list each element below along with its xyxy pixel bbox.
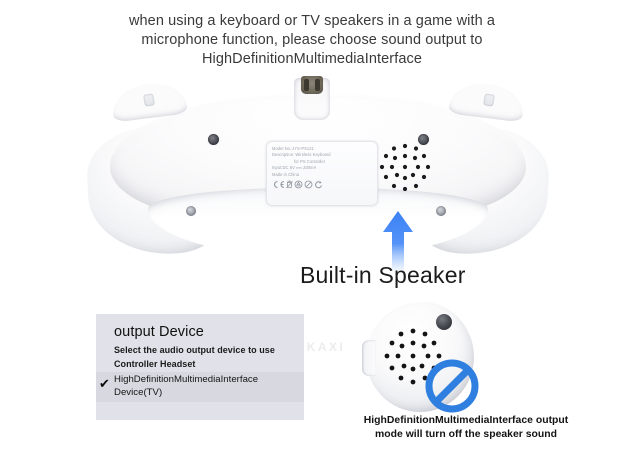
shoulder-notch-left-icon xyxy=(143,93,155,107)
header-line-2: microphone function, please choose sound… xyxy=(62,31,562,50)
check-icon: ✔ xyxy=(99,377,110,390)
product-info-graphic: when using a keyboard or TV speakers in … xyxy=(0,0,624,460)
controller-back-photo: Model No.:JYS-PS121 Description: Wireles… xyxy=(88,78,548,278)
spec-label: Model No.:JYS-PS121 Description: Wireles… xyxy=(266,141,378,206)
dialog-title: output Device xyxy=(96,324,304,343)
certification-icons xyxy=(272,180,372,189)
dialog-option-hdmi-line2: Device(TV) xyxy=(114,387,304,400)
dialog-option-controller-headset[interactable]: Controller Headset xyxy=(96,357,304,371)
speaker-pointer-arrow-icon xyxy=(380,210,416,270)
speaker-grille-icon xyxy=(376,140,434,198)
dialog-option-hdmi-device[interactable]: ✔ HighDefinitionMultimediaInterface Devi… xyxy=(96,372,304,402)
ce-mark-icon xyxy=(272,180,285,189)
spec-line-origin: Made in China xyxy=(272,172,372,178)
header-line-1: when using a keyboard or TV speakers in … xyxy=(62,12,562,31)
header-line-3: HighDefinitionMultimediaInterface xyxy=(62,50,562,69)
prohibition-no-sound-icon xyxy=(424,358,480,414)
recycle-icon xyxy=(294,180,303,189)
screw-bottom-right-icon xyxy=(436,206,446,216)
inset-caption: HighDefinitionMultimediaInterface output… xyxy=(316,414,616,442)
speaker-closeup-inset xyxy=(362,300,476,414)
dialog-option-hdmi-line1: HighDefinitionMultimediaInterface xyxy=(114,374,304,387)
screw-bottom-left-icon xyxy=(186,206,196,216)
dialog-subtitle: Select the audio output device to use xyxy=(96,343,304,357)
rohs-icon xyxy=(314,180,323,189)
weee-bin-icon xyxy=(286,180,293,189)
usb-connector-icon xyxy=(301,76,323,94)
inset-caption-line-1: HighDefinitionMultimediaInterface output xyxy=(316,414,616,428)
header-instruction: when using a keyboard or TV speakers in … xyxy=(62,12,562,69)
inset-caption-line-2: mode will turn off the speaker sound xyxy=(316,428,616,442)
output-device-dialog[interactable]: output Device Select the audio output de… xyxy=(96,314,304,420)
builtin-speaker-label: Built-in Speaker xyxy=(300,262,466,289)
speaker-closeup-tab xyxy=(362,340,376,376)
no-disposal-icon xyxy=(304,180,313,189)
screw-top-left-icon xyxy=(208,134,219,145)
